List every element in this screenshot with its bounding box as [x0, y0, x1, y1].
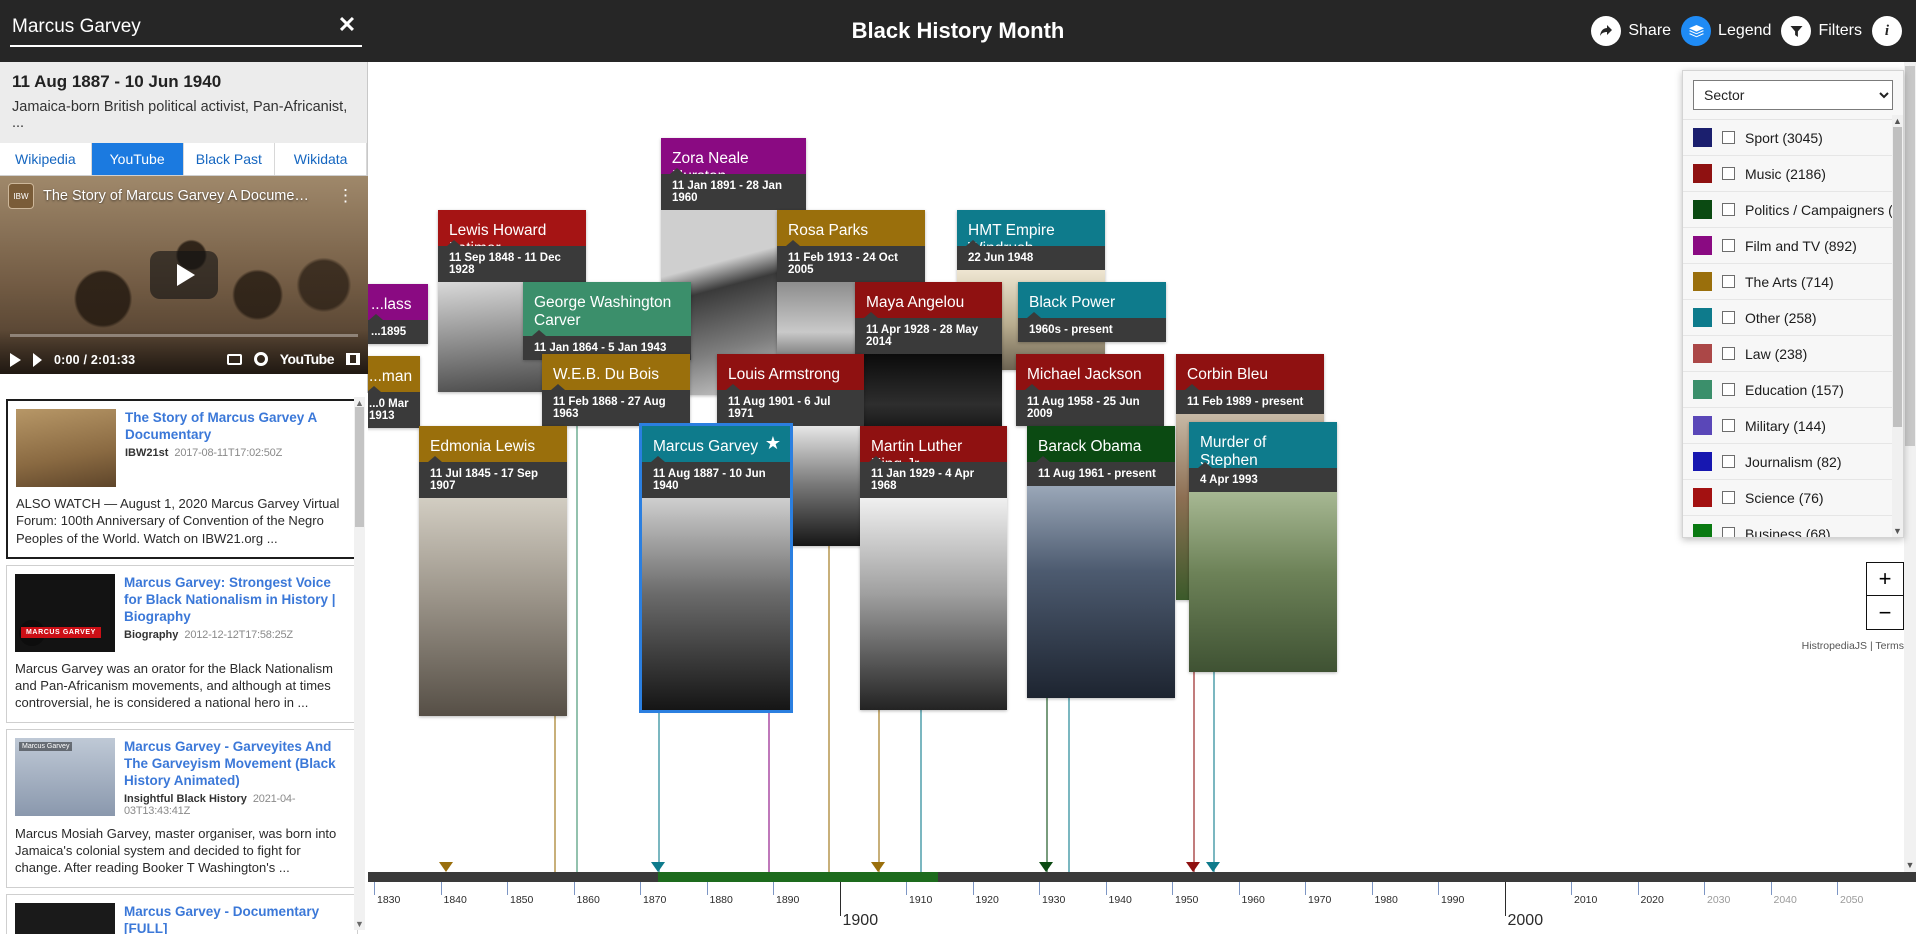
legend-color-swatch — [1693, 272, 1712, 291]
legend-button[interactable]: Legend — [1681, 16, 1771, 46]
detail-tab-youtube[interactable]: YouTube — [92, 143, 184, 175]
event-card-harriet-tubman[interactable]: ...man...0 Mar 1913 — [368, 356, 420, 428]
ruler-tick — [1571, 882, 1572, 895]
legend-select-wrap: Sector — [1683, 71, 1903, 119]
settings-gear-icon[interactable] — [254, 352, 268, 366]
funnel-icon — [1781, 16, 1811, 46]
legend-item-label: Education (157) — [1745, 382, 1844, 398]
legend-color-swatch — [1693, 236, 1712, 255]
legend-scrollbar[interactable]: ▲ ▼ — [1892, 115, 1903, 537]
ruler-year-label: 1880 — [710, 894, 733, 906]
sidebar-scrollbar[interactable]: ▲ ▼ — [354, 397, 365, 930]
legend-item[interactable]: Military (144) — [1683, 408, 1903, 444]
event-card-barack-obama[interactable]: Barack Obama11 Aug 1961 - present — [1027, 426, 1175, 698]
canvas-scroll-thumb[interactable] — [1905, 66, 1915, 446]
ruler-year-label: 2020 — [1641, 894, 1664, 906]
ruler-year-label: 1920 — [976, 894, 999, 906]
legend-color-swatch — [1693, 488, 1712, 507]
event-card-dates: 4 Apr 1993 — [1189, 468, 1337, 492]
event-card-image — [1027, 486, 1175, 698]
video-result-top: Marcus Garvey - Documentary [FULL] — [15, 903, 349, 934]
ruler-tick — [1172, 882, 1173, 895]
event-card-dates: 11 Aug 1958 - 25 Jun 2009 — [1016, 390, 1164, 426]
ruler-year-label: 1860 — [577, 894, 600, 906]
share-label: Share — [1628, 22, 1671, 40]
video-thumbnail[interactable]: MARCUS GARVEY — [15, 574, 115, 652]
ruler-tick — [1239, 882, 1240, 895]
event-card-martin-luther-king-jr[interactable]: Martin Luther King Jr.11 Jan 1929 - 4 Ap… — [860, 426, 1007, 710]
detail-tab-wikipedia[interactable]: Wikipedia — [0, 143, 92, 175]
legend-label: Legend — [1718, 22, 1771, 40]
legend-scroll-up-icon[interactable]: ▲ — [1892, 115, 1903, 127]
legend-color-swatch — [1693, 128, 1712, 147]
video-result-info: Marcus Garvey: Strongest Voice for Black… — [124, 574, 349, 652]
event-card-maya-angelou[interactable]: Maya Angelou11 Apr 1928 - 28 May 2014 — [855, 282, 1002, 446]
legend-item[interactable]: Film and TV (892) — [1683, 228, 1903, 264]
ruler-year-label: 2030 — [1707, 894, 1730, 906]
legend-item[interactable]: Education (157) — [1683, 372, 1903, 408]
search-box[interactable]: ✕ — [10, 11, 362, 47]
timeline-marker[interactable] — [871, 862, 885, 872]
play-icon[interactable] — [10, 353, 21, 367]
event-card-douglass[interactable]: ...lass...1895 — [368, 284, 428, 344]
legend-checkbox[interactable] — [1722, 419, 1735, 432]
event-card-murder-of-stephen-lawrence[interactable]: Murder of Stephen Lawrence4 Apr 1993 — [1189, 422, 1337, 672]
ruler-year-label: 1950 — [1175, 894, 1198, 906]
legend-checkbox[interactable] — [1722, 239, 1735, 252]
legend-color-swatch — [1693, 164, 1712, 183]
video-result-info: Marcus Garvey - Garveyites And The Garve… — [124, 738, 349, 817]
more-options-icon[interactable]: ⋮ — [331, 186, 360, 206]
ruler-year-label: 1990 — [1441, 894, 1464, 906]
video-channel: IBW21st — [125, 447, 168, 459]
channel-avatar: IBW — [8, 183, 34, 209]
event-card-dates: 11 Aug 1887 - 10 Jun 1940 — [642, 462, 790, 498]
legend-item-label: Business (68) — [1745, 526, 1831, 539]
legend-item-label: Politics / Campaigners (1051) — [1745, 202, 1904, 218]
ruler-ticks: 1830184018501860187018801890190019101920… — [368, 882, 1916, 934]
canvas-scroll-down-icon[interactable]: ▼ — [1904, 859, 1916, 872]
legend-color-swatch — [1693, 416, 1712, 435]
legend-item-label: Law (238) — [1745, 346, 1807, 362]
share-icon — [1591, 16, 1621, 46]
ruler-year-label: 1930 — [1042, 894, 1065, 906]
legend-item[interactable]: Journalism (82) — [1683, 444, 1903, 480]
event-card-image — [642, 498, 790, 710]
event-card-dates: 1960s - present — [1018, 318, 1166, 342]
legend-color-swatch — [1693, 452, 1712, 471]
legend-checkbox[interactable] — [1722, 275, 1735, 288]
legend-item[interactable]: Music (2186) — [1683, 156, 1903, 192]
event-card-dates: 11 Aug 1961 - present — [1027, 462, 1175, 486]
detail-header: 11 Aug 1887 - 10 Jun 1940 Jamaica-born B… — [0, 62, 367, 143]
toolbar-actions: Share Legend Filters i — [1591, 0, 1902, 62]
legend-color-swatch — [1693, 308, 1712, 327]
ruler-year-label: 2050 — [1840, 894, 1863, 906]
timeline-ruler[interactable]: 1830184018501860187018801890190019101920… — [368, 872, 1916, 934]
event-card-dates: 11 Sep 1848 - 11 Dec 1928 — [438, 246, 586, 282]
event-card-image — [1189, 492, 1337, 672]
video-thumbnail[interactable] — [16, 409, 116, 487]
sidebar-scroll-thumb[interactable] — [355, 407, 364, 527]
top-toolbar: ✕ Black History Month Share Legend Filte — [0, 0, 1916, 62]
timeline-marker[interactable] — [1206, 862, 1220, 872]
video-snippet: ALSO WATCH — August 1, 2020 Marcus Garve… — [16, 495, 348, 547]
layers-icon — [1681, 16, 1711, 46]
legend-checkbox[interactable] — [1722, 311, 1735, 324]
ruler-year-label: 1980 — [1375, 894, 1398, 906]
filters-button[interactable]: Filters — [1781, 16, 1862, 46]
ruler-track — [368, 872, 1916, 882]
event-card-image — [419, 498, 567, 716]
legend-color-swatch — [1693, 200, 1712, 219]
video-player[interactable]: IBW The Story of Marcus Garvey A Docume…… — [0, 176, 368, 374]
timeline-marker[interactable] — [651, 862, 665, 872]
ruler-year-label: 1900 — [843, 912, 879, 930]
ruler-tick — [707, 882, 708, 895]
ruler-year-label: 2010 — [1574, 894, 1597, 906]
video-result-title[interactable]: The Story of Marcus Garvey A Documentary — [125, 409, 348, 443]
event-card-dates: 11 Jul 1845 - 17 Sep 1907 — [419, 462, 567, 498]
youtube-logo: YouTube — [280, 351, 334, 367]
event-card-web-du-bois[interactable]: W.E.B. Du Bois11 Feb 1868 - 27 Aug 1963 — [542, 354, 690, 426]
detail-sidebar: 11 Aug 1887 - 10 Jun 1940 Jamaica-born B… — [0, 62, 368, 934]
ruler-tick — [507, 882, 508, 895]
ruler-tick — [1704, 882, 1705, 895]
ruler-tick — [441, 882, 442, 895]
event-card-dates: 11 Apr 1928 - 28 May 2014 — [855, 318, 1002, 354]
ruler-tick — [640, 882, 641, 895]
legend-item-label: Other (258) — [1745, 310, 1817, 326]
ruler-year-label: 2040 — [1774, 894, 1797, 906]
video-result-top: The Story of Marcus Garvey A Documentary… — [16, 409, 348, 487]
legend-item-label: Music (2186) — [1745, 166, 1826, 182]
legend-item-label: Film and TV (892) — [1745, 238, 1857, 254]
legend-panel: Sector Sport (3045)Music (2186)Politics … — [1682, 70, 1904, 538]
legend-checkbox[interactable] — [1722, 203, 1735, 216]
info-icon: i — [1872, 16, 1902, 46]
event-card-title: George Washington Carver — [523, 282, 691, 336]
video-result-title[interactable]: Marcus Garvey - Documentary [FULL] — [124, 903, 349, 934]
ruler-year-label: 1940 — [1109, 894, 1132, 906]
legend-item[interactable]: Law (238) — [1683, 336, 1903, 372]
detail-tabs: WikipediaYouTubeBlack PastWikidata — [0, 143, 367, 176]
legend-item[interactable]: Business (68) — [1683, 516, 1903, 538]
video-results-list[interactable]: The Story of Marcus Garvey A Documentary… — [0, 393, 368, 934]
video-channel: Insightful Black History — [124, 793, 247, 805]
ruler-tick — [840, 882, 841, 916]
search-input[interactable] — [10, 11, 330, 43]
fullscreen-icon[interactable] — [346, 353, 360, 365]
ruler-year-label: 1830 — [377, 894, 400, 906]
ruler-tick — [1638, 882, 1639, 895]
credit-label[interactable]: HistropediaJS | Terms — [1802, 640, 1904, 652]
video-result-meta: Insightful Black History2021-04-03T13:43… — [124, 793, 349, 817]
legend-color-swatch — [1693, 344, 1712, 363]
legend-checkbox[interactable] — [1722, 527, 1735, 538]
legend-checkbox[interactable] — [1722, 131, 1735, 144]
legend-item-label: Science (76) — [1745, 490, 1824, 506]
ruler-tick — [1039, 882, 1040, 895]
legend-item[interactable]: Other (258) — [1683, 300, 1903, 336]
ruler-tick — [1505, 882, 1506, 916]
legend-list: Sport (3045)Music (2186)Politics / Campa… — [1683, 119, 1903, 538]
ruler-selection-band — [658, 872, 938, 882]
thumbnail-caption: Marcus Garvey — [19, 742, 72, 751]
video-result-top: MARCUS GARVEYMarcus Garvey: Strongest Vo… — [15, 574, 349, 652]
video-published-date: 2012-12-12T17:58:25Z — [184, 629, 293, 641]
video-result-info: The Story of Marcus Garvey A Documentary… — [125, 409, 348, 487]
video-time: 0:00 / 2:01:33 — [54, 353, 135, 367]
timeline-marker[interactable] — [1186, 862, 1200, 872]
ruler-year-label: 1910 — [909, 894, 932, 906]
video-result-meta: Biography2012-12-12T17:58:25Z — [124, 629, 349, 641]
detail-tab-black-past[interactable]: Black Past — [184, 143, 276, 175]
event-card-george-washington-carver[interactable]: George Washington Carver11 Jan 1864 - 5 … — [523, 282, 691, 360]
video-result-title[interactable]: Marcus Garvey: Strongest Voice for Black… — [124, 574, 349, 625]
video-published-date: 2017-08-11T17:02:50Z — [174, 447, 282, 459]
minus-icon: − — [1879, 600, 1892, 626]
legend-checkbox[interactable] — [1722, 383, 1735, 396]
volume-icon[interactable] — [33, 353, 42, 367]
event-card-dates: 11 Feb 1868 - 27 Aug 1963 — [542, 390, 690, 426]
sidebar-scroll-down-icon[interactable]: ▼ — [354, 918, 365, 930]
ruler-tick — [1438, 882, 1439, 895]
zoom-in-button[interactable]: + — [1866, 562, 1904, 596]
event-card-black-power[interactable]: Black Power1960s - present — [1018, 282, 1166, 342]
video-snippet: Marcus Garvey was an orator for the Blac… — [15, 660, 349, 712]
legend-checkbox[interactable] — [1722, 167, 1735, 180]
video-thumbnail[interactable]: Marcus Garvey — [15, 738, 115, 816]
video-result-item[interactable]: MARCUS GARVEYMarcus Garvey: Strongest Vo… — [6, 565, 358, 723]
event-card-image — [860, 498, 1007, 710]
event-card-dates: 11 Feb 1913 - 24 Oct 2005 — [777, 246, 925, 282]
legend-scroll-down-icon[interactable]: ▼ — [1892, 525, 1903, 537]
ruler-year-label: 1960 — [1242, 894, 1265, 906]
app-root: ✕ Black History Month Share Legend Filte — [0, 0, 1916, 934]
ruler-tick — [1771, 882, 1772, 895]
video-progress-bar[interactable] — [10, 334, 358, 337]
event-card-edmonia-lewis[interactable]: Edmonia Lewis11 Jul 1845 - 17 Sep 1907 — [419, 426, 567, 716]
legend-checkbox[interactable] — [1722, 347, 1735, 360]
share-button[interactable]: Share — [1591, 16, 1671, 46]
captions-icon[interactable] — [227, 354, 242, 365]
detail-dates: 11 Aug 1887 - 10 Jun 1940 — [12, 72, 355, 92]
ruler-tick — [1305, 882, 1306, 895]
legend-category-select[interactable]: Sector — [1693, 80, 1893, 110]
timeline-marker[interactable] — [439, 862, 453, 872]
ruler-tick — [906, 882, 907, 895]
legend-item-label: The Arts (714) — [1745, 274, 1834, 290]
video-channel: Biography — [124, 629, 178, 641]
legend-scroll-thumb[interactable] — [1893, 127, 1902, 427]
event-card-michael-jackson[interactable]: Michael Jackson11 Aug 1958 - 25 Jun 2009 — [1016, 354, 1164, 426]
legend-item-label: Military (144) — [1745, 418, 1826, 434]
event-card-marcus-garvey[interactable]: Marcus Garvey★11 Aug 1887 - 10 Jun 1940 — [642, 426, 790, 710]
clear-search-icon[interactable]: ✕ — [334, 12, 360, 38]
video-player-header: IBW The Story of Marcus Garvey A Docume…… — [0, 176, 368, 216]
video-snippet: Marcus Mosiah Garvey, master organiser, … — [15, 825, 349, 877]
legend-item-label: Journalism (82) — [1745, 454, 1841, 470]
ruler-year-label: 1890 — [776, 894, 799, 906]
ruler-year-label: 1970 — [1308, 894, 1331, 906]
favourite-star-icon[interactable]: ★ — [763, 433, 783, 453]
video-result-item[interactable]: Marcus Garvey - Documentary [FULL] — [6, 894, 358, 934]
ruler-year-label: 1840 — [444, 894, 467, 906]
video-title: The Story of Marcus Garvey A Docume… — [43, 188, 331, 204]
legend-checkbox[interactable] — [1722, 491, 1735, 504]
legend-item[interactable]: The Arts (714) — [1683, 264, 1903, 300]
ruler-tick — [773, 882, 774, 895]
video-result-info: Marcus Garvey - Documentary [FULL] — [124, 903, 349, 934]
thumbnail-caption: MARCUS GARVEY — [21, 627, 101, 638]
timeline-marker[interactable] — [1039, 862, 1053, 872]
event-card-dates: ...0 Mar 1913 — [368, 392, 420, 428]
event-card-dates: ...1895 — [368, 320, 428, 344]
ruler-tick — [1106, 882, 1107, 895]
legend-color-swatch — [1693, 524, 1712, 538]
ruler-year-label: 2000 — [1508, 912, 1544, 930]
ruler-tick — [1837, 882, 1838, 895]
event-card-dates: 22 Jun 1948 — [957, 246, 1105, 270]
video-result-top: Marcus GarveyMarcus Garvey - Garveyites … — [15, 738, 349, 817]
ruler-year-label: 1870 — [643, 894, 666, 906]
play-button[interactable] — [150, 251, 218, 299]
ruler-tick — [973, 882, 974, 895]
plus-icon: + — [1879, 566, 1892, 592]
canvas-vertical-scrollbar[interactable]: ▲ ▼ — [1904, 62, 1916, 872]
event-card-dates: 11 Aug 1901 - 6 Jul 1971 — [717, 390, 864, 426]
video-thumbnail[interactable] — [15, 903, 115, 934]
video-result-item[interactable]: Marcus GarveyMarcus Garvey - Garveyites … — [6, 729, 358, 888]
video-result-meta: IBW21st2017-08-11T17:02:50Z — [125, 447, 348, 459]
event-card-dates: 11 Jan 1891 - 28 Jan 1960 — [661, 174, 806, 210]
ruler-year-label: 1850 — [510, 894, 533, 906]
event-card-dates: 11 Feb 1989 - present — [1176, 390, 1324, 414]
ruler-tick — [574, 882, 575, 895]
video-result-item[interactable]: The Story of Marcus Garvey A Documentary… — [6, 399, 358, 559]
legend-item-label: Sport (3045) — [1745, 130, 1823, 146]
legend-checkbox[interactable] — [1722, 455, 1735, 468]
info-button[interactable]: i — [1872, 16, 1902, 46]
zoom-out-button[interactable]: − — [1866, 596, 1904, 630]
legend-item[interactable]: Sport (3045) — [1683, 120, 1903, 156]
video-controls-left: 0:00 / 2:01:33 — [10, 353, 135, 367]
video-controls-bar: 0:00 / 2:01:33 YouTube — [0, 330, 368, 374]
detail-tab-wikidata[interactable]: Wikidata — [275, 143, 367, 175]
legend-color-swatch — [1693, 380, 1712, 399]
ruler-tick — [374, 882, 375, 895]
video-controls-right: YouTube — [227, 351, 360, 367]
video-result-title[interactable]: Marcus Garvey - Garveyites And The Garve… — [124, 738, 349, 789]
event-card-dates: 11 Jan 1929 - 4 Apr 1968 — [860, 462, 1007, 498]
ruler-tick — [1372, 882, 1373, 895]
filters-label: Filters — [1818, 22, 1862, 40]
legend-item[interactable]: Politics / Campaigners (1051) — [1683, 192, 1903, 228]
legend-item[interactable]: Science (76) — [1683, 480, 1903, 516]
detail-description: Jamaica-born British political activist,… — [12, 99, 355, 131]
